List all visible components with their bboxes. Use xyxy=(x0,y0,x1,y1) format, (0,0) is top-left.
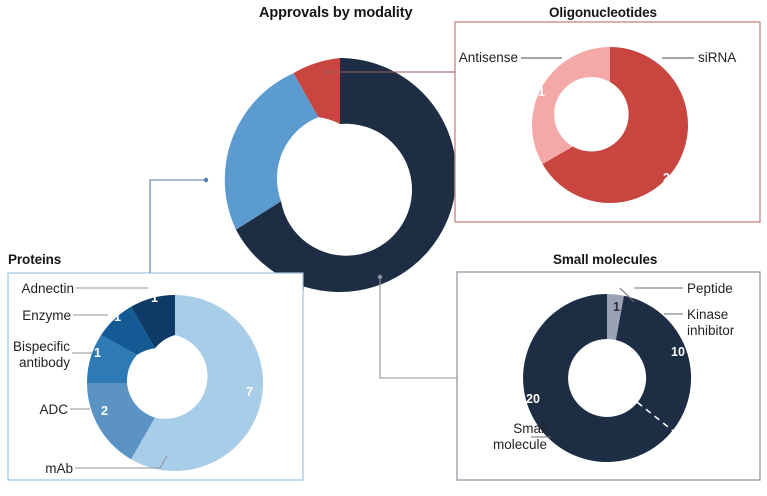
sm-label-peptide: Peptide xyxy=(687,281,763,297)
prot-label-adc: ADC xyxy=(0,402,68,418)
prot-label-bispecific: Bispecific antibody xyxy=(0,339,70,370)
sm-value-small-molecule: 20 xyxy=(526,392,540,406)
oligo-label-sirna: siRNA xyxy=(698,50,764,66)
prot-label-enzyme: Enzyme xyxy=(0,308,71,324)
main-value-proteins: 12 xyxy=(216,130,230,144)
prot-value-bispecific: 1 xyxy=(94,346,101,360)
small-panel-title: Small molecules xyxy=(553,252,657,267)
prot-value-adc: 2 xyxy=(101,404,108,418)
prot-label-mab: mAb xyxy=(0,461,73,477)
small-molecules-panel xyxy=(378,272,760,480)
main-slice-proteins[interactable] xyxy=(225,73,319,230)
connector-proteins-dot xyxy=(204,178,208,182)
main-value-small-molecules: 31 xyxy=(418,262,432,276)
prot-value-enzyme: 1 xyxy=(114,310,121,324)
sm-value-kinase-inhibitor: 10 xyxy=(671,345,685,359)
prot-label-adnectin: Adnectin xyxy=(0,281,74,297)
chart-canvas xyxy=(0,0,767,496)
sm-label-small-molecule: Small molecule xyxy=(455,421,547,452)
figure-root: Approvals by modality Oligonucleotides S… xyxy=(0,0,767,496)
connector-small-molecules xyxy=(380,277,457,378)
main-value-oligonucleotides: 3 xyxy=(314,44,321,58)
oligo-value-sirna: 2 xyxy=(663,171,670,185)
sm-value-peptide: 1 xyxy=(613,300,620,314)
oligo-label-antisense: Antisense xyxy=(406,50,518,66)
oligo-panel-title: Oligonucleotides xyxy=(549,5,657,20)
page-title: Approvals by modality xyxy=(259,5,412,21)
proteins-panel-title: Proteins xyxy=(8,252,61,267)
main-donut xyxy=(225,58,457,292)
prot-value-adnectin: 1 xyxy=(151,291,158,305)
connector-small-dot xyxy=(378,275,382,279)
connector-oligo-dot xyxy=(325,70,329,74)
connector-proteins xyxy=(150,180,206,273)
oligo-value-antisense: 1 xyxy=(538,85,545,99)
prot-value-mab: 7 xyxy=(246,385,253,399)
sm-label-kinase-inhibitor: Kinase inhibitor xyxy=(687,307,765,338)
